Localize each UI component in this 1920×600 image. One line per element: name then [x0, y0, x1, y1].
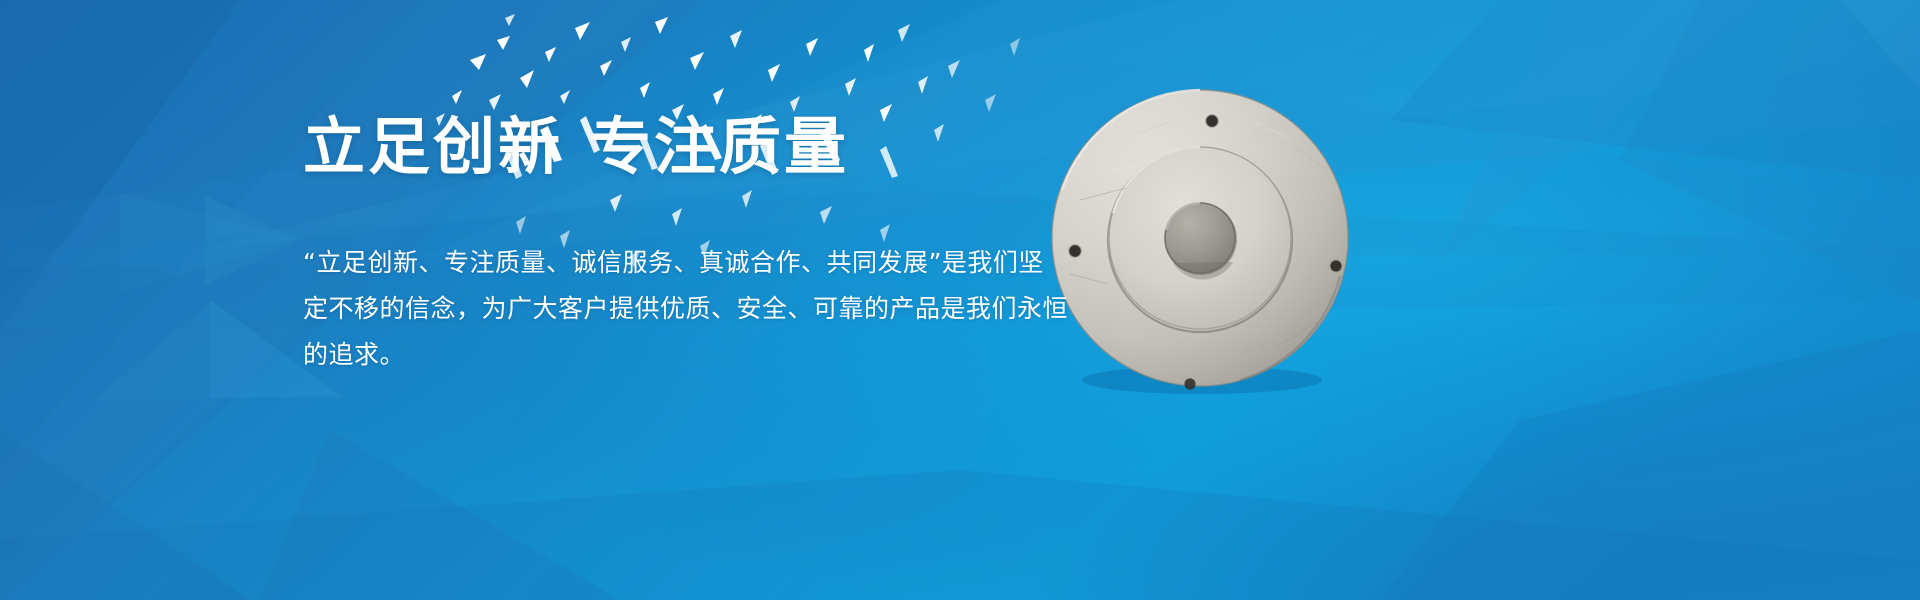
headline-part1: 立足创新	[303, 110, 563, 183]
body-copy: “立足创新、专注质量、诚信服务、真诚合作、共同发展”是我们坚 定不移的信念，为广…	[303, 240, 963, 378]
body-line-2: 定不移的信念，为广大客户提供优质、安全、可靠的产品是我们永恒	[303, 286, 963, 332]
headline-part2: 专注质量	[589, 110, 849, 183]
body-line-1: “立足创新、专注质量、诚信服务、真诚合作、共同发展”是我们坚	[303, 240, 963, 286]
product-image-metal-flange	[1040, 78, 1360, 398]
body-line-3: 的追求。	[303, 332, 963, 378]
hero-banner: 立足创新专注质量	[0, 0, 1920, 600]
headline: 立足创新专注质量	[303, 113, 849, 181]
